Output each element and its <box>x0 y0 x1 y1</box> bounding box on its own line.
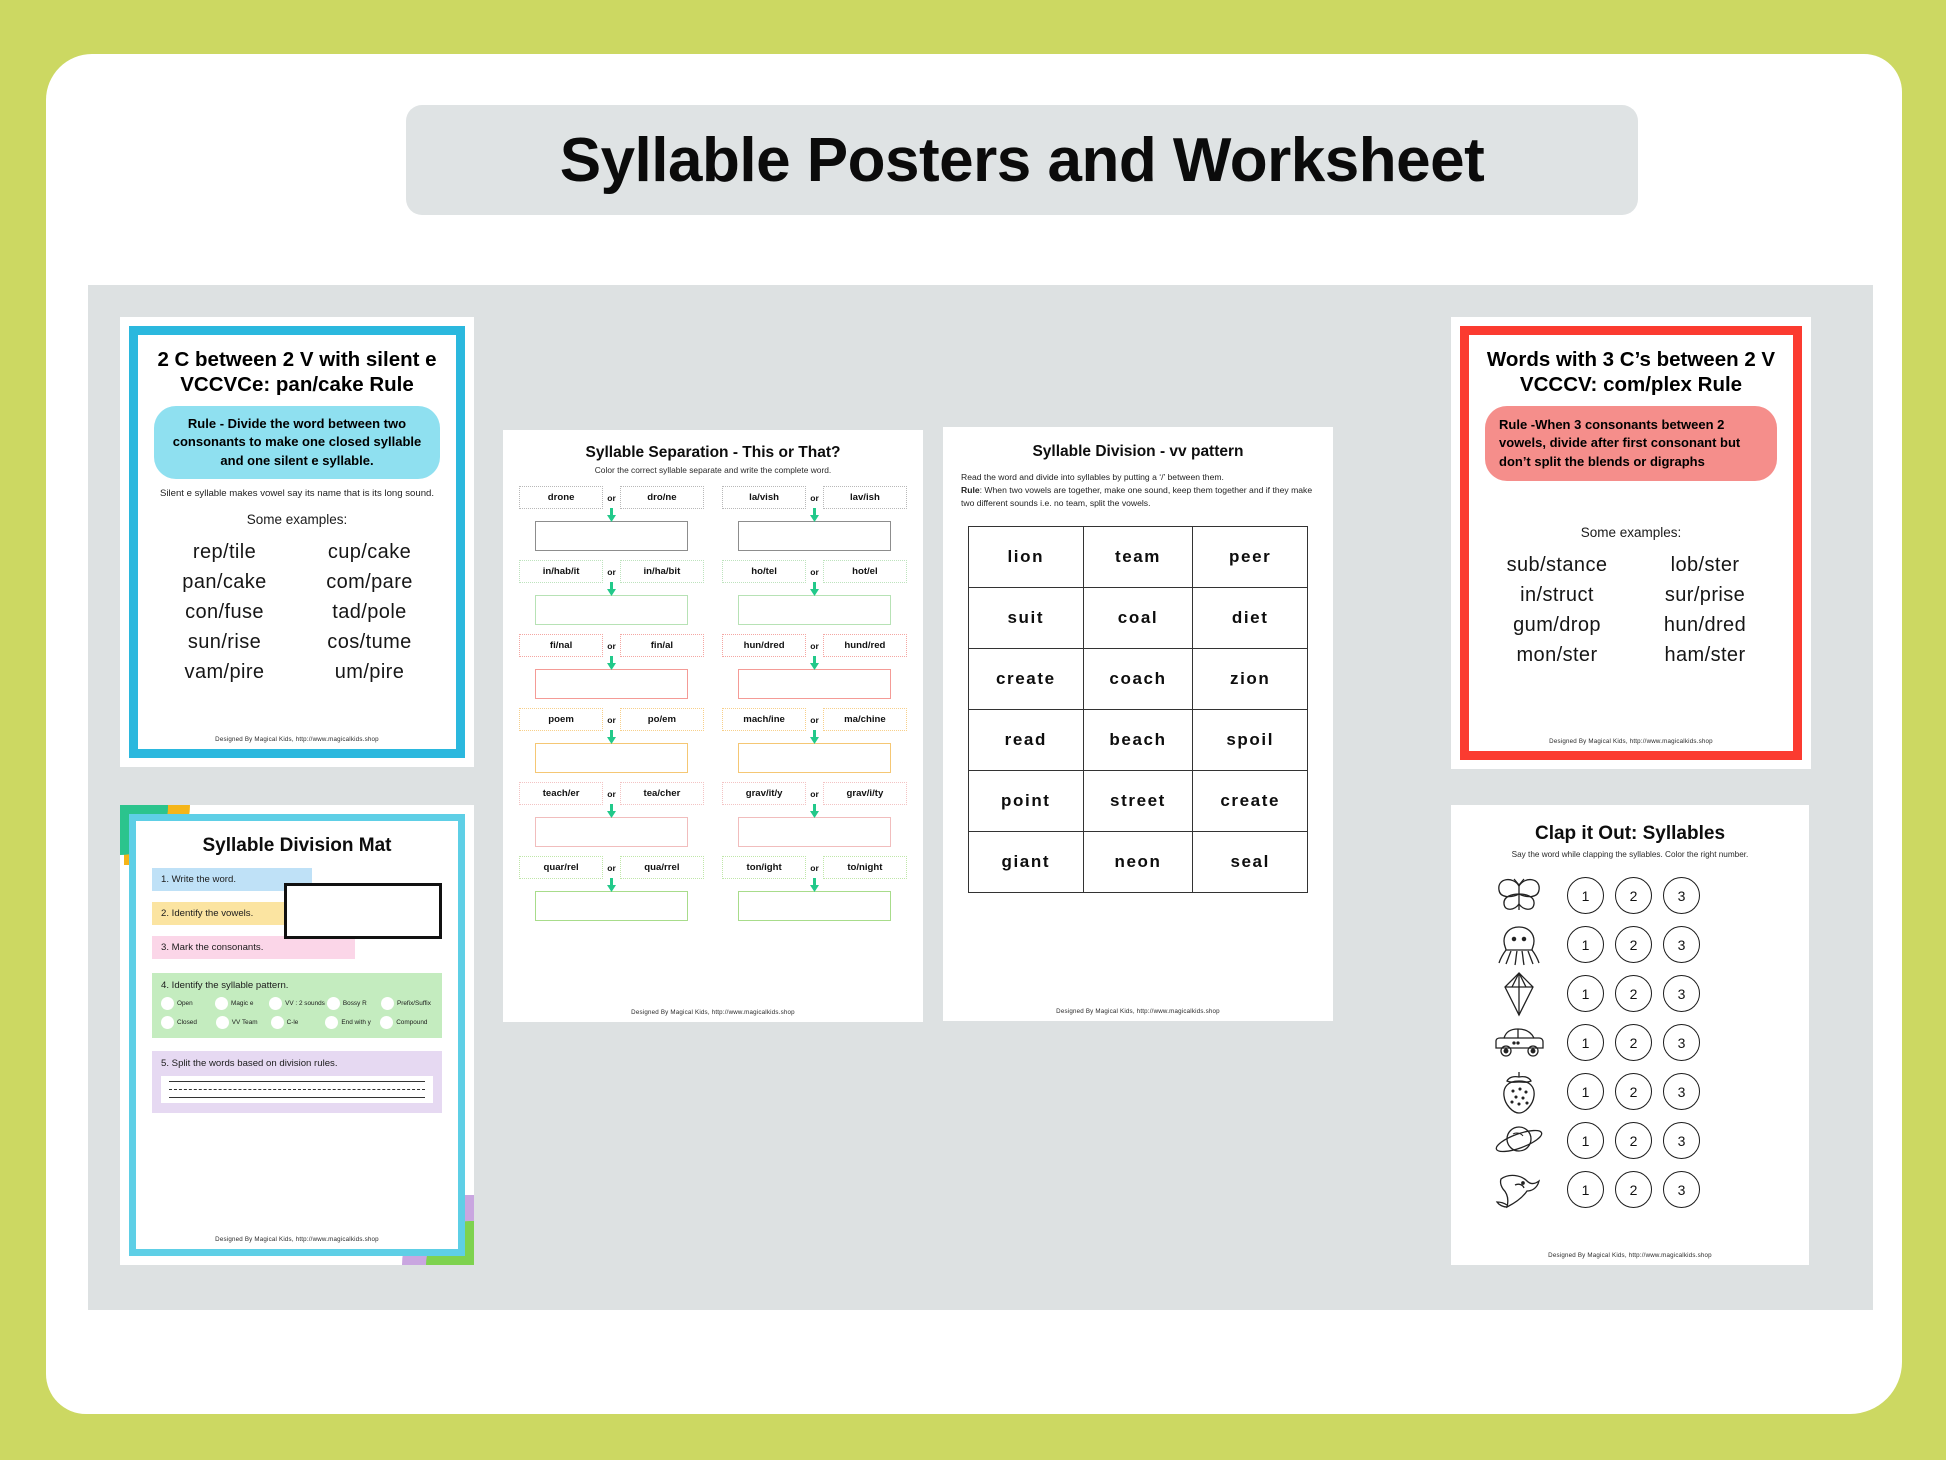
separation-option-right[interactable]: grav/i/ty <box>823 782 907 805</box>
separation-or-label: or <box>606 789 617 799</box>
syllable-count-circle[interactable]: 2 <box>1615 877 1652 914</box>
division-mat-step-3: 3. Mark the consonants. <box>152 936 355 959</box>
separation-option-left[interactable]: teach/er <box>519 782 603 805</box>
separation-pair[interactable]: teach/erortea/cher <box>519 782 704 847</box>
syllable-count-circle[interactable]: 1 <box>1567 1171 1604 1208</box>
separation-pair[interactable]: fi/nalorfin/al <box>519 634 704 699</box>
poster-vccvce-rule: Rule - Divide the word between two conso… <box>154 406 440 479</box>
clap-row: 123 <box>1471 871 1789 920</box>
table-row: giantneonseal <box>969 831 1308 892</box>
separation-or-label: or <box>606 863 617 873</box>
separation-or-label: or <box>606 567 617 577</box>
syllable-pattern-option[interactable]: VV Team <box>216 1016 269 1029</box>
separation-option-right[interactable]: to/night <box>823 856 907 879</box>
separation-or-label: or <box>606 715 617 725</box>
syllable-count-options: 123 <box>1567 1073 1700 1110</box>
separation-option-row: la/vishorlav/ish <box>722 486 907 509</box>
example-word: sun/rise <box>152 631 297 654</box>
poster-vcccv[interactable]: Words with 3 C’s between 2 V VCCCV: com/… <box>1451 317 1811 769</box>
separation-answer-box[interactable] <box>535 669 689 699</box>
car-icon <box>1471 1026 1567 1060</box>
separation-or-label: or <box>809 641 820 651</box>
page-title-banner: Syllable Posters and Worksheet <box>406 105 1638 215</box>
syllable-pattern-option[interactable]: Open <box>161 997 213 1010</box>
worksheet-division-mat[interactable]: Syllable Division Mat 1. Write the word.… <box>120 805 474 1265</box>
clap-footer: Designed By Magical Kids, http://www.mag… <box>1451 1252 1809 1259</box>
separation-option-right[interactable]: hund/red <box>823 634 907 657</box>
poster-vccvce[interactable]: 2 C between 2 V with silent e VCCVCe: pa… <box>120 317 474 767</box>
page-title: Syllable Posters and Worksheet <box>560 125 1485 196</box>
worksheet-board: 2 C between 2 V with silent e VCCVCe: pa… <box>88 285 1873 1310</box>
separation-option-row: poemorpo/em <box>519 708 704 731</box>
clap-row: 123 <box>1471 1116 1789 1165</box>
syllable-pattern-label: Prefix/Suffix <box>397 1000 431 1007</box>
separation-option-row: ton/ightorto/night <box>722 856 907 879</box>
separation-option-left[interactable]: quar/rel <box>519 856 603 879</box>
poster-vcccv-heading-line2: VCCCV: com/plex Rule <box>1483 372 1779 397</box>
checkbox-circle[interactable] <box>216 1016 229 1029</box>
separation-answer-box[interactable] <box>738 595 892 625</box>
strawberry-icon <box>1471 1069 1567 1115</box>
syllable-count-circle[interactable]: 3 <box>1663 926 1700 963</box>
vv-rule-text: : When two vowels are together, make one… <box>961 485 1312 508</box>
separation-or-label: or <box>809 493 820 503</box>
syllable-pattern-option[interactable]: C-le <box>271 1016 324 1029</box>
example-word: cos/tume <box>297 631 442 654</box>
separation-answer-box[interactable] <box>738 817 892 847</box>
syllable-count-circle[interactable]: 2 <box>1615 1122 1652 1159</box>
gem-icon <box>1471 971 1567 1017</box>
separation-option-right[interactable]: tea/cher <box>620 782 704 805</box>
separation-option-row: teach/erortea/cher <box>519 782 704 805</box>
syllable-pattern-label: VV Team <box>232 1019 258 1026</box>
separation-answer-box[interactable] <box>738 891 892 921</box>
vv-rule-prefix: Rule <box>961 485 980 495</box>
separation-answer-box[interactable] <box>535 817 689 847</box>
syllable-pattern-label: Magic e <box>231 1000 253 1007</box>
vv-word-table: lionteampeersuitcoaldietcreatecoachzionr… <box>968 526 1308 893</box>
checkbox-circle[interactable] <box>269 997 282 1010</box>
example-word: con/fuse <box>152 601 297 624</box>
separation-option-row: fi/nalorfin/al <box>519 634 704 657</box>
vv-title: Syllable Division - vv pattern <box>961 443 1315 461</box>
separation-option-left[interactable]: ton/ight <box>722 856 806 879</box>
vv-word-cell[interactable]: zion <box>1193 648 1308 709</box>
vv-footer: Designed By Magical Kids, http://www.mag… <box>943 1008 1333 1015</box>
checkbox-circle[interactable] <box>215 997 228 1010</box>
table-row: suitcoaldiet <box>969 587 1308 648</box>
checkbox-circle[interactable] <box>381 997 394 1010</box>
syllable-pattern-row-2: ClosedVV TeamC-leEnd with yCompound <box>161 1016 433 1029</box>
clap-row: 123 <box>1471 1067 1789 1116</box>
syllable-count-circle[interactable]: 1 <box>1567 1122 1604 1159</box>
division-mat-step-5: 5. Split the words based on division rul… <box>152 1051 442 1113</box>
clap-row: 123 <box>1471 1018 1789 1067</box>
planet-icon <box>1471 1120 1567 1162</box>
separation-answer-box[interactable] <box>535 521 689 551</box>
separation-pair-grid: droneordro/nela/vishorlav/ishin/hab/itor… <box>519 486 907 921</box>
separation-option-right[interactable]: in/ha/bit <box>620 560 704 583</box>
separation-option-right[interactable]: po/em <box>620 708 704 731</box>
syllable-count-circle[interactable]: 2 <box>1615 1024 1652 1061</box>
dolphin-icon <box>1471 1169 1567 1211</box>
example-word: sub/stance <box>1483 554 1631 577</box>
syllable-count-circle[interactable]: 3 <box>1663 1171 1700 1208</box>
poster-vccvce-heading-line2: VCCVCe: pan/cake Rule <box>152 372 442 397</box>
example-word: hun/dred <box>1631 614 1779 637</box>
syllable-pattern-label: C-le <box>287 1019 299 1026</box>
separation-option-row: droneordro/ne <box>519 486 704 509</box>
example-word: rep/tile <box>152 541 297 564</box>
separation-answer-box[interactable] <box>738 669 892 699</box>
vv-word-cell[interactable]: create <box>1193 770 1308 831</box>
separation-or-label: or <box>606 641 617 651</box>
clap-row: 123 <box>1471 1165 1789 1214</box>
poster-vcccv-footer: Designed By Magical Kids, http://www.mag… <box>1469 738 1793 745</box>
checkbox-circle[interactable] <box>327 997 340 1010</box>
clap-title: Clap it Out: Syllables <box>1471 823 1789 845</box>
syllable-count-circle[interactable]: 1 <box>1567 926 1604 963</box>
example-word: pan/cake <box>152 571 297 594</box>
separation-option-row: in/hab/itorin/ha/bit <box>519 560 704 583</box>
example-word: com/pare <box>297 571 442 594</box>
vv-word-cell[interactable]: suit <box>969 587 1084 648</box>
separation-option-right[interactable]: ma/chine <box>823 708 907 731</box>
separation-or-label: or <box>809 789 820 799</box>
separation-option-row: hun/dredorhund/red <box>722 634 907 657</box>
syllable-count-options: 123 <box>1567 975 1700 1012</box>
example-word: in/struct <box>1483 584 1631 607</box>
separation-option-row: mach/ineorma/chine <box>722 708 907 731</box>
separation-option-left[interactable]: la/vish <box>722 486 806 509</box>
poster-vccvce-heading-line1: 2 C between 2 V with silent e <box>152 347 442 372</box>
syllable-pattern-option[interactable]: Compound <box>380 1016 433 1029</box>
separation-option-row: grav/it/yorgrav/i/ty <box>722 782 907 805</box>
syllable-pattern-option[interactable]: Prefix/Suffix <box>381 997 433 1010</box>
checkbox-circle[interactable] <box>380 1016 393 1029</box>
vv-word-cell[interactable]: diet <box>1193 587 1308 648</box>
table-row: readbeachspoil <box>969 709 1308 770</box>
syllable-count-circle[interactable]: 2 <box>1615 1073 1652 1110</box>
syllable-count-options: 123 <box>1567 877 1700 914</box>
separation-option-left[interactable]: in/hab/it <box>519 560 603 583</box>
separation-pair[interactable]: poemorpo/em <box>519 708 704 773</box>
separation-pair[interactable]: grav/it/yorgrav/i/ty <box>722 782 907 847</box>
syllable-pattern-option[interactable]: Magic e <box>215 997 267 1010</box>
vv-word-cell[interactable]: coal <box>1083 587 1193 648</box>
separation-option-left[interactable]: mach/ine <box>722 708 806 731</box>
separation-pair[interactable]: mach/ineorma/chine <box>722 708 907 773</box>
clap-row-list: 123123123123123123123 <box>1471 871 1789 1214</box>
vv-word-cell[interactable]: street <box>1083 770 1193 831</box>
syllable-pattern-row-1: OpenMagic eVV : 2 soundsBossy RPrefix/Su… <box>161 997 433 1010</box>
separation-pair[interactable]: hun/dredorhund/red <box>722 634 907 699</box>
poster-vcccv-heading-line1: Words with 3 C’s between 2 V <box>1483 347 1779 372</box>
separation-option-left[interactable]: grav/it/y <box>722 782 806 805</box>
example-word: gum/drop <box>1483 614 1631 637</box>
syllable-pattern-label: Bossy R <box>343 1000 367 1007</box>
syllable-count-circle[interactable]: 3 <box>1663 877 1700 914</box>
octopus-icon <box>1471 923 1567 967</box>
separation-option-left[interactable]: fi/nal <box>519 634 603 657</box>
vv-rule-line: Rule: When two vowels are together, make… <box>961 484 1315 510</box>
separation-pair[interactable]: ho/telorhot/el <box>722 560 907 625</box>
syllable-count-options: 123 <box>1567 1171 1700 1208</box>
separation-option-left[interactable]: ho/tel <box>722 560 806 583</box>
separation-or-label: or <box>606 493 617 503</box>
checkbox-circle[interactable] <box>325 1016 338 1029</box>
syllable-pattern-label: VV : 2 sounds <box>285 1000 325 1007</box>
division-mat-step-4: 4. Identify the syllable pattern. OpenMa… <box>152 973 442 1038</box>
checkbox-circle[interactable] <box>161 1016 174 1029</box>
separation-pair[interactable]: quar/relorqua/rrel <box>519 856 704 921</box>
poster-vcccv-rule: Rule -When 3 consonants between 2 vowels… <box>1485 406 1777 481</box>
separation-option-left[interactable]: drone <box>519 486 603 509</box>
example-word: lob/ster <box>1631 554 1779 577</box>
vv-word-cell[interactable]: neon <box>1083 831 1193 892</box>
separation-option-left[interactable]: hun/dred <box>722 634 806 657</box>
example-word: um/pire <box>297 661 442 684</box>
handwriting-lines[interactable] <box>161 1076 433 1103</box>
separation-subtitle: Color the correct syllable separate and … <box>519 465 907 475</box>
syllable-pattern-option[interactable]: VV : 2 sounds <box>269 997 325 1010</box>
vv-word-cell[interactable]: create <box>969 648 1084 709</box>
syllable-count-options: 123 <box>1567 926 1700 963</box>
separation-option-right[interactable]: dro/ne <box>620 486 704 509</box>
separation-footer: Designed By Magical Kids, http://www.mag… <box>503 1009 923 1016</box>
vv-word-cell[interactable]: giant <box>969 831 1084 892</box>
syllable-pattern-label: Open <box>177 1000 193 1007</box>
vv-word-cell[interactable]: beach <box>1083 709 1193 770</box>
vv-word-cell[interactable]: seal <box>1193 831 1308 892</box>
separation-or-label: or <box>809 715 820 725</box>
separation-answer-box[interactable] <box>535 891 689 921</box>
separation-pair[interactable]: droneordro/ne <box>519 486 704 551</box>
worksheet-syllable-separation[interactable]: Syllable Separation - This or That? Colo… <box>503 430 923 1022</box>
poster-vccvce-examples-label: Some examples: <box>152 512 442 527</box>
worksheet-vv-pattern[interactable]: Syllable Division - vv pattern Read the … <box>943 427 1333 1021</box>
syllable-count-circle[interactable]: 3 <box>1663 1122 1700 1159</box>
division-mat-footer: Designed By Magical Kids, http://www.mag… <box>136 1236 458 1243</box>
separation-option-right[interactable]: lav/ish <box>823 486 907 509</box>
vv-word-cell[interactable]: point <box>969 770 1084 831</box>
syllable-count-circle[interactable]: 3 <box>1663 975 1700 1012</box>
division-mat-word-box[interactable] <box>284 883 442 939</box>
poster-vcccv-heading: Words with 3 C’s between 2 V VCCCV: com/… <box>1483 347 1779 397</box>
separation-or-label: or <box>809 567 820 577</box>
separation-option-right[interactable]: qua/rrel <box>620 856 704 879</box>
example-word: mon/ster <box>1483 644 1631 667</box>
poster-vccvce-footer: Designed By Magical Kids, http://www.mag… <box>138 736 456 743</box>
syllable-count-circle[interactable]: 2 <box>1615 926 1652 963</box>
checkbox-circle[interactable] <box>161 997 174 1010</box>
syllable-pattern-option[interactable]: Bossy R <box>327 997 379 1010</box>
vv-word-cell[interactable]: read <box>969 709 1084 770</box>
syllable-count-circle[interactable]: 2 <box>1615 1171 1652 1208</box>
vv-word-cell[interactable]: peer <box>1193 526 1308 587</box>
separation-pair[interactable]: in/hab/itorin/ha/bit <box>519 560 704 625</box>
separation-or-label: or <box>809 863 820 873</box>
poster-vcccv-word-list: sub/stancelob/sterin/structsur/prisegum/… <box>1483 554 1779 667</box>
separation-option-left[interactable]: poem <box>519 708 603 731</box>
syllable-pattern-label: Compound <box>396 1019 427 1026</box>
vv-instructions: Read the word and divide into syllables … <box>961 471 1315 510</box>
separation-answer-box[interactable] <box>535 595 689 625</box>
example-word: sur/prise <box>1631 584 1779 607</box>
poster-vcccv-examples-label: Some examples: <box>1483 525 1779 540</box>
syllable-pattern-label: Closed <box>177 1019 197 1026</box>
example-word: cup/cake <box>297 541 442 564</box>
separation-answer-box[interactable] <box>738 521 892 551</box>
page-root: Syllable Posters and Worksheet 2 C betwe… <box>0 0 1946 1460</box>
table-row: createcoachzion <box>969 648 1308 709</box>
syllable-count-circle[interactable]: 3 <box>1663 1024 1700 1061</box>
separation-title: Syllable Separation - This or That? <box>519 444 907 462</box>
vv-word-cell[interactable]: lion <box>969 526 1084 587</box>
separation-answer-box[interactable] <box>535 743 689 773</box>
separation-pair[interactable]: la/vishorlav/ish <box>722 486 907 551</box>
vv-instruction-line: Read the word and divide into syllables … <box>961 471 1315 484</box>
syllable-pattern-option[interactable]: Closed <box>161 1016 214 1029</box>
syllable-count-options: 123 <box>1567 1122 1700 1159</box>
division-mat-step-4-label: 4. Identify the syllable pattern. <box>161 980 433 991</box>
table-row: pointstreetcreate <box>969 770 1308 831</box>
separation-option-row: quar/relorqua/rrel <box>519 856 704 879</box>
example-word: vam/pire <box>152 661 297 684</box>
clap-row: 123 <box>1471 969 1789 1018</box>
separation-answer-box[interactable] <box>738 743 892 773</box>
separation-option-right[interactable]: fin/al <box>620 634 704 657</box>
syllable-count-circle[interactable]: 1 <box>1567 1024 1604 1061</box>
clap-row: 123 <box>1471 920 1789 969</box>
syllable-pattern-label: End with y <box>341 1019 370 1026</box>
poster-vccvce-note: Silent e syllable makes vowel say its na… <box>152 488 442 501</box>
syllable-count-circle[interactable]: 1 <box>1567 975 1604 1012</box>
vv-word-cell[interactable]: spoil <box>1193 709 1308 770</box>
poster-vccvce-word-list: rep/tilecup/cakepan/cakecom/parecon/fuse… <box>152 541 442 684</box>
separation-option-right[interactable]: hot/el <box>823 560 907 583</box>
separation-pair[interactable]: ton/ightorto/night <box>722 856 907 921</box>
checkbox-circle[interactable] <box>271 1016 284 1029</box>
butterfly-icon <box>1471 876 1567 916</box>
division-mat-title: Syllable Division Mat <box>152 835 442 857</box>
syllable-count-circle[interactable]: 1 <box>1567 877 1604 914</box>
syllable-count-circle[interactable]: 3 <box>1663 1073 1700 1110</box>
example-word: tad/pole <box>297 601 442 624</box>
clap-subtitle: Say the word while clapping the syllable… <box>1471 850 1789 859</box>
example-word: ham/ster <box>1631 644 1779 667</box>
syllable-count-options: 123 <box>1567 1024 1700 1061</box>
worksheet-clap-it-out[interactable]: Clap it Out: Syllables Say the word whil… <box>1451 805 1809 1265</box>
syllable-pattern-option[interactable]: End with y <box>325 1016 378 1029</box>
table-row: lionteampeer <box>969 526 1308 587</box>
poster-vccvce-heading: 2 C between 2 V with silent e VCCVCe: pa… <box>152 347 442 397</box>
vv-word-cell[interactable]: team <box>1083 526 1193 587</box>
division-mat-step-5-label: 5. Split the words based on division rul… <box>161 1058 433 1069</box>
syllable-count-circle[interactable]: 2 <box>1615 975 1652 1012</box>
syllable-count-circle[interactable]: 1 <box>1567 1073 1604 1110</box>
vv-word-cell[interactable]: coach <box>1083 648 1193 709</box>
separation-option-row: ho/telorhot/el <box>722 560 907 583</box>
